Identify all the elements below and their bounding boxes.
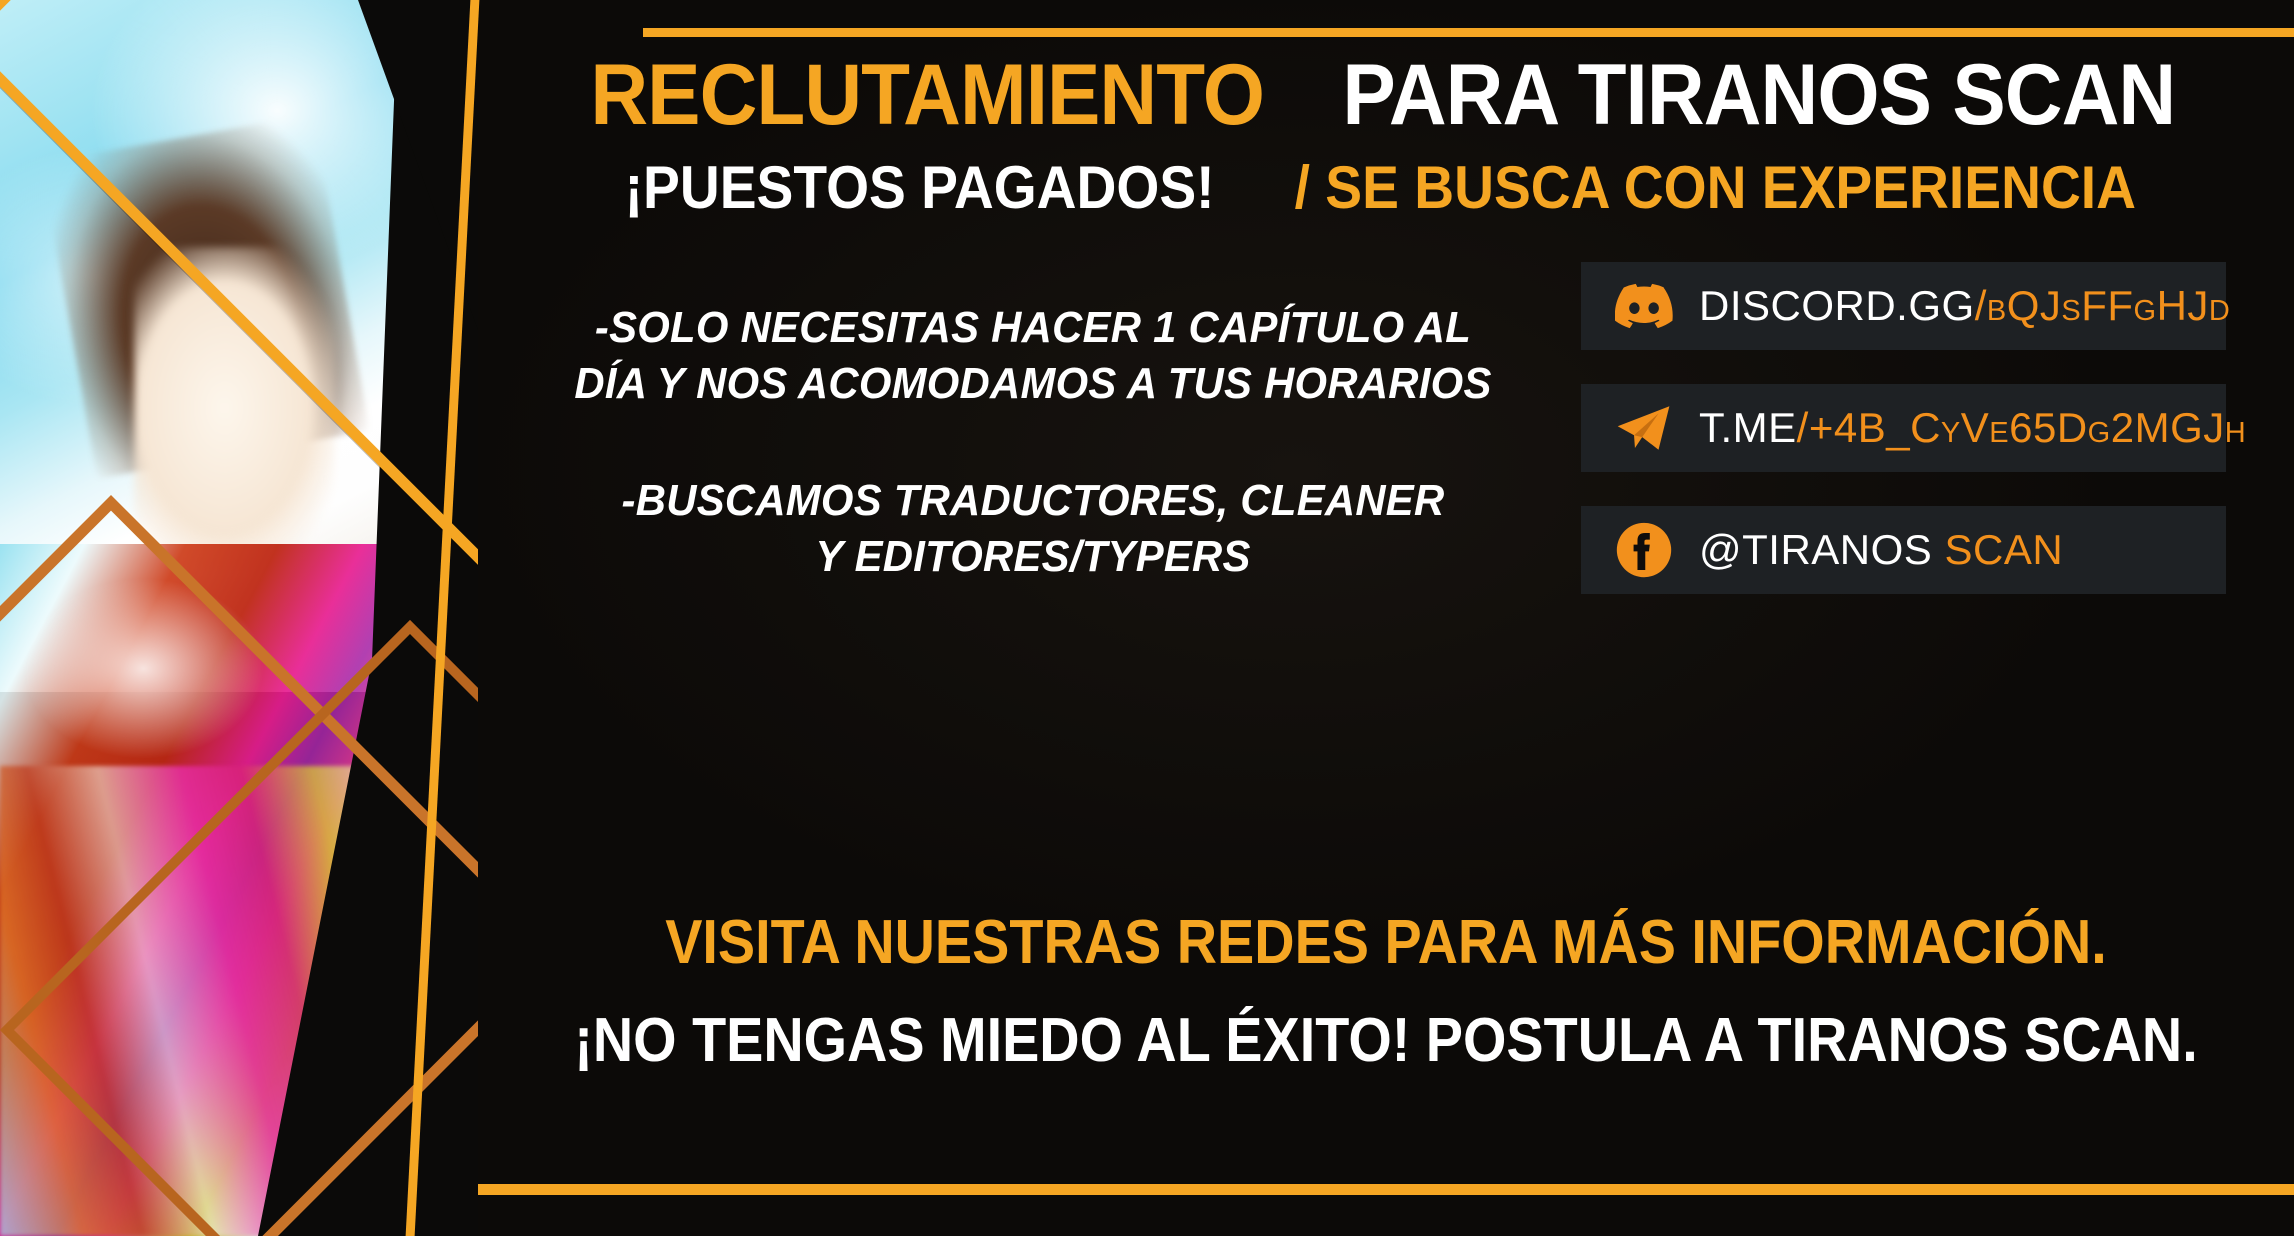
recruitment-banner: RECLUTAMIENTOPARA TIRANOS SCAN ¡PUESTOS … (0, 0, 2294, 1236)
gold-rule-bottom (478, 1184, 2294, 1195)
page-title: RECLUTAMIENTOPARA TIRANOS SCAN (478, 52, 2294, 138)
discord-invite-code: bQJsFFgHJd (1987, 282, 2231, 329)
body-line: DÍA Y NOS ACOMODAMOS A TUS HORARIOS (525, 356, 1542, 412)
headline-part-white: PARA TIRANOS SCAN (1343, 52, 2176, 138)
artwork-face-shape (134, 247, 335, 568)
cta-line-apply: ¡NO TENGAS MIEDO AL ÉXITO! POSTULA A TIR… (569, 1003, 2203, 1079)
discord-domain: DISCORD.GG (1699, 282, 1975, 329)
headline-part-gold: RECLUTAMIENTO (590, 52, 1264, 138)
body-line: -BUSCAMOS TRADUCTORES, CLEANER (525, 473, 1542, 529)
contact-badge-telegram[interactable]: T.ME/+4B_CyVe65Dg2MGJh (1581, 384, 2226, 472)
facebook-separator (1932, 526, 1944, 573)
discord-icon (1615, 277, 1673, 335)
telegram-separator: / (1797, 404, 1809, 451)
subtitle-part-white: ¡PUESTOS PAGADOS! (625, 158, 1215, 218)
artwork-panel (0, 0, 478, 1236)
contact-badge-facebook[interactable]: @TIRANOS SCAN (1581, 506, 2226, 594)
contact-badge-list: DISCORD.GG/bQJsFFgHJd T.ME/+4B_CyVe65Dg2… (1581, 262, 2226, 628)
subtitle: ¡PUESTOS PAGADOS!/ SE BUSCA CON EXPERIEN… (478, 158, 2294, 218)
facebook-handle-suffix: SCAN (1945, 526, 2064, 573)
cta-line-visit-networks: VISITA NUESTRAS REDES PARA MÁS INFORMACI… (569, 905, 2203, 981)
telegram-handle: +4B_CyVe65Dg2MGJh (1809, 404, 2246, 451)
contact-badge-discord[interactable]: DISCORD.GG/bQJsFFgHJd (1581, 262, 2226, 350)
discord-separator: / (1975, 282, 1987, 329)
telegram-badge-text: T.ME/+4B_CyVe65Dg2MGJh (1699, 404, 2246, 452)
call-to-action: VISITA NUESTRAS REDES PARA MÁS INFORMACI… (478, 905, 2294, 1078)
facebook-icon (1615, 521, 1673, 579)
content-panel: RECLUTAMIENTOPARA TIRANOS SCAN ¡PUESTOS … (478, 0, 2294, 1236)
telegram-icon (1615, 399, 1673, 457)
body-paragraph-requirements: -SOLO NECESITAS HACER 1 CAPÍTULO AL DÍA … (525, 300, 1542, 413)
telegram-domain: T.ME (1699, 404, 1797, 451)
discord-badge-text: DISCORD.GG/bQJsFFgHJd (1699, 282, 2230, 330)
facebook-handle: @TIRANOS (1699, 526, 1932, 573)
facebook-badge-text: @TIRANOS SCAN (1699, 526, 2063, 574)
gold-rule-top (643, 28, 2294, 37)
body-paragraph-roles: -BUSCAMOS TRADUCTORES, CLEANER Y EDITORE… (525, 473, 1542, 586)
body-line: Y EDITORES/TYPERS (525, 529, 1542, 585)
body-copy: -SOLO NECESITAS HACER 1 CAPÍTULO AL DÍA … (498, 300, 1568, 585)
subtitle-part-gold: / SE BUSCA CON EXPERIENCIA (1295, 158, 2136, 218)
body-line: -SOLO NECESITAS HACER 1 CAPÍTULO AL (525, 300, 1542, 356)
